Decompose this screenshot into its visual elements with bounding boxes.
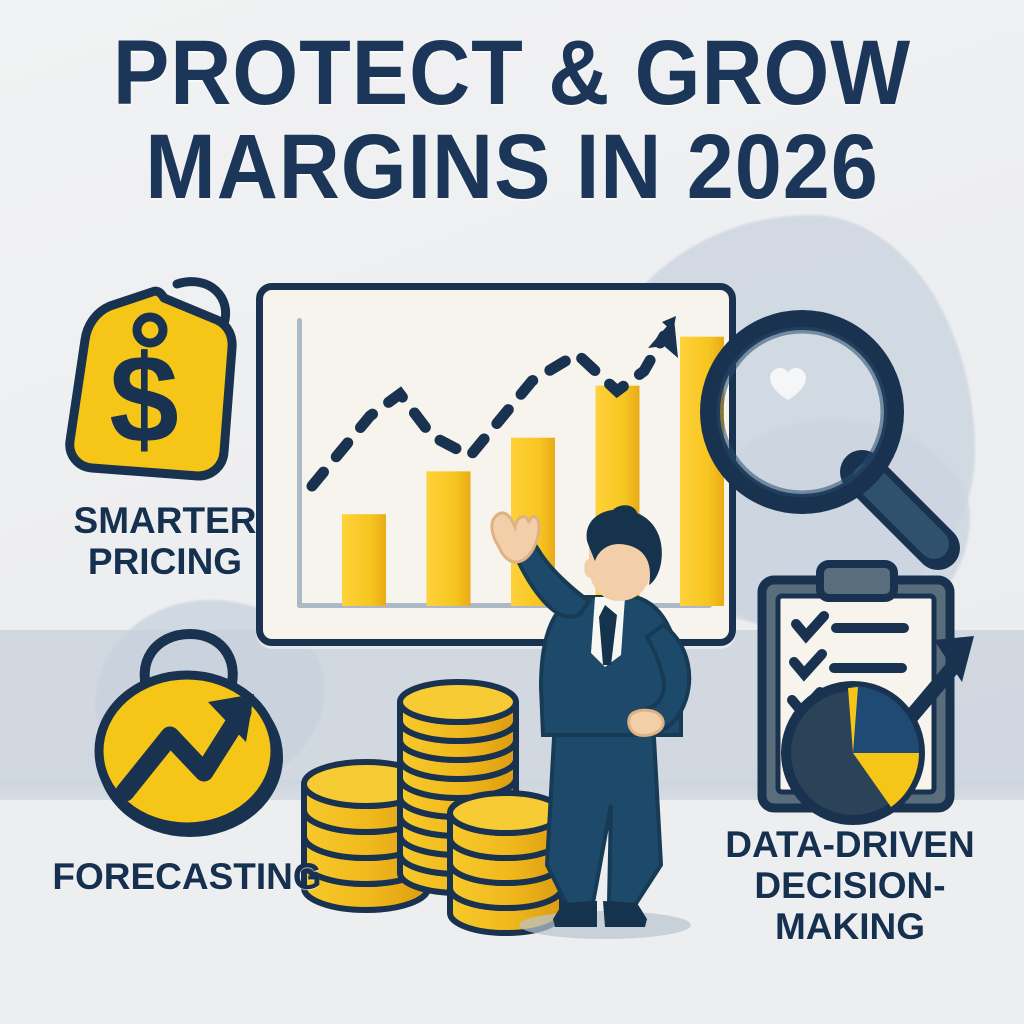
trousers: [547, 720, 661, 905]
bar-1: [342, 514, 386, 606]
pie-chart-icon: [786, 686, 920, 820]
trend-line: [292, 296, 682, 511]
clipboard-checklist-icon: [748, 558, 993, 833]
label-forecasting: FORECASTING: [22, 856, 352, 897]
poster-canvas: PROTECT & GROW MARGINS IN 2026 $: [0, 0, 1024, 1024]
title-line-1: PROTECT & GROW: [41, 26, 983, 120]
heart-icon: [770, 368, 806, 400]
price-tag-currency-symbol: $: [109, 330, 179, 469]
price-tag-dollar-icon: $: [52, 262, 272, 492]
label-smarter-pricing-line-1: SMARTER: [40, 500, 290, 541]
label-data-driven-line-1: DATA-DRIVEN: [690, 824, 1010, 865]
businessman-presenter-illustration: [485, 505, 725, 940]
label-data-driven-decision-making: DATA-DRIVEN DECISION- MAKING: [690, 824, 1010, 947]
label-data-driven-line-2: DECISION-: [690, 865, 1010, 906]
label-data-driven-line-3: MAKING: [690, 906, 1010, 947]
label-forecasting-text: FORECASTING: [22, 856, 352, 897]
shoe-left: [553, 901, 597, 927]
trend-arrow-badge-icon: [82, 620, 297, 845]
shoe-right: [603, 901, 647, 927]
label-smarter-pricing: SMARTER PRICING: [40, 500, 290, 582]
title-line-2: MARGINS IN 2026: [41, 120, 983, 214]
magnifying-glass-icon: [690, 300, 975, 585]
label-smarter-pricing-line-2: PRICING: [40, 541, 290, 582]
hip-hand: [629, 710, 663, 735]
page-title: PROTECT & GROW MARGINS IN 2026: [0, 26, 1024, 214]
